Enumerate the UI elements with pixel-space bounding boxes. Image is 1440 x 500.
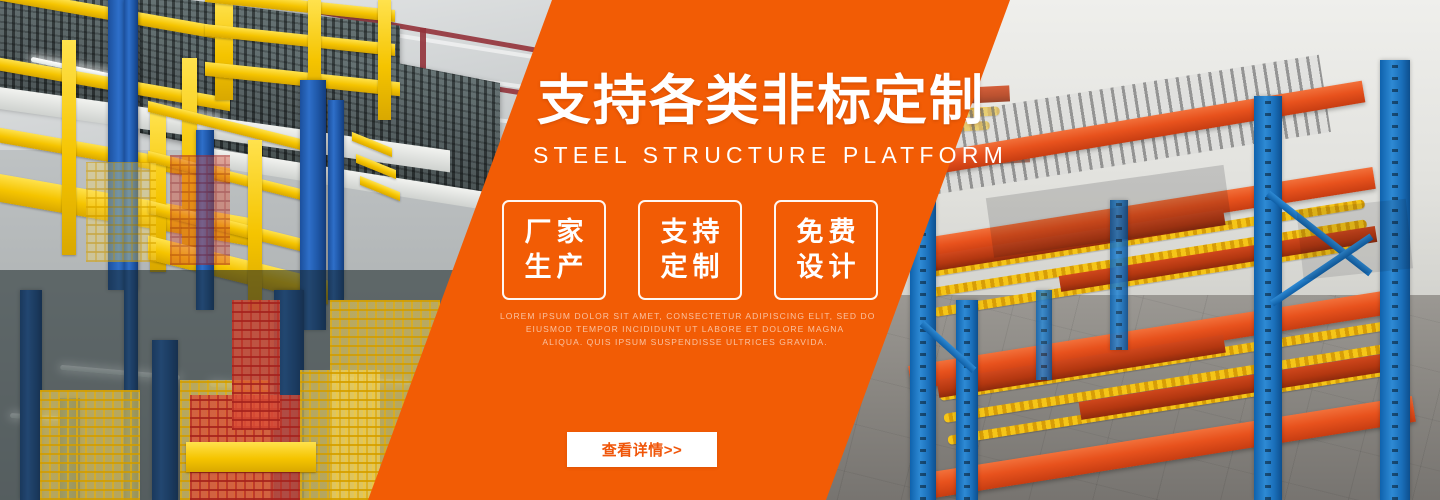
view-details-label: 查看详情>> <box>602 439 683 460</box>
lorem-paragraph: LOREM IPSUM DOLOR SIT AMET, CONSECTETUR … <box>500 310 870 349</box>
headline: 支持各类非标定制 <box>537 74 985 128</box>
badge-line-2: 生产 <box>520 251 589 284</box>
lorem-line-3: ALIQUA. QUIS IPSUM SUSPENDISSE ULTRICES … <box>500 336 870 349</box>
badge-line-1: 厂家 <box>520 216 589 249</box>
feature-badges: 厂家 生产 支持 定制 免费 设计 <box>502 200 878 300</box>
lorem-line-2: EIUSMOD TEMPOR INCIDIDUNT UT LABORE ET D… <box>500 323 870 336</box>
badge-line-2: 定制 <box>656 251 725 284</box>
badge-line-1: 免费 <box>792 216 861 249</box>
view-details-button[interactable]: 查看详情>> <box>567 432 717 467</box>
badge-line-1: 支持 <box>656 216 725 249</box>
lorem-line-1: LOREM IPSUM DOLOR SIT AMET, CONSECTETUR … <box>500 310 870 323</box>
promo-banner: 支持各类非标定制 STEEL STRUCTURE PLATFORM 厂家 生产 … <box>0 0 1440 500</box>
badge-line-2: 设计 <box>792 251 861 284</box>
feature-badge-customization: 支持 定制 <box>638 200 742 300</box>
subheadline: STEEL STRUCTURE PLATFORM <box>533 144 1008 167</box>
banner-content: 支持各类非标定制 STEEL STRUCTURE PLATFORM 厂家 生产 … <box>0 0 1440 500</box>
feature-badge-manufacturer: 厂家 生产 <box>502 200 606 300</box>
feature-badge-free-design: 免费 设计 <box>774 200 878 300</box>
